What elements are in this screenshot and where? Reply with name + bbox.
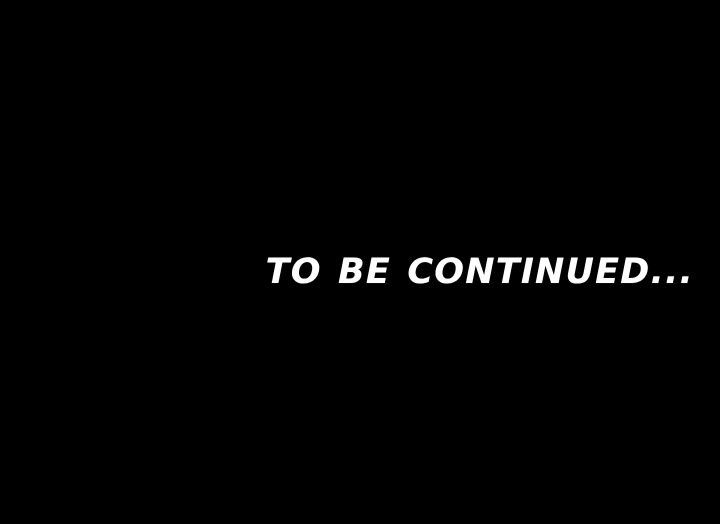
comic-panel: TO BE CONTINUED... [0, 0, 720, 524]
to-be-continued-caption: TO BE CONTINUED... [0, 250, 694, 294]
caption-layer: TO BE CONTINUED... [0, 0, 720, 524]
